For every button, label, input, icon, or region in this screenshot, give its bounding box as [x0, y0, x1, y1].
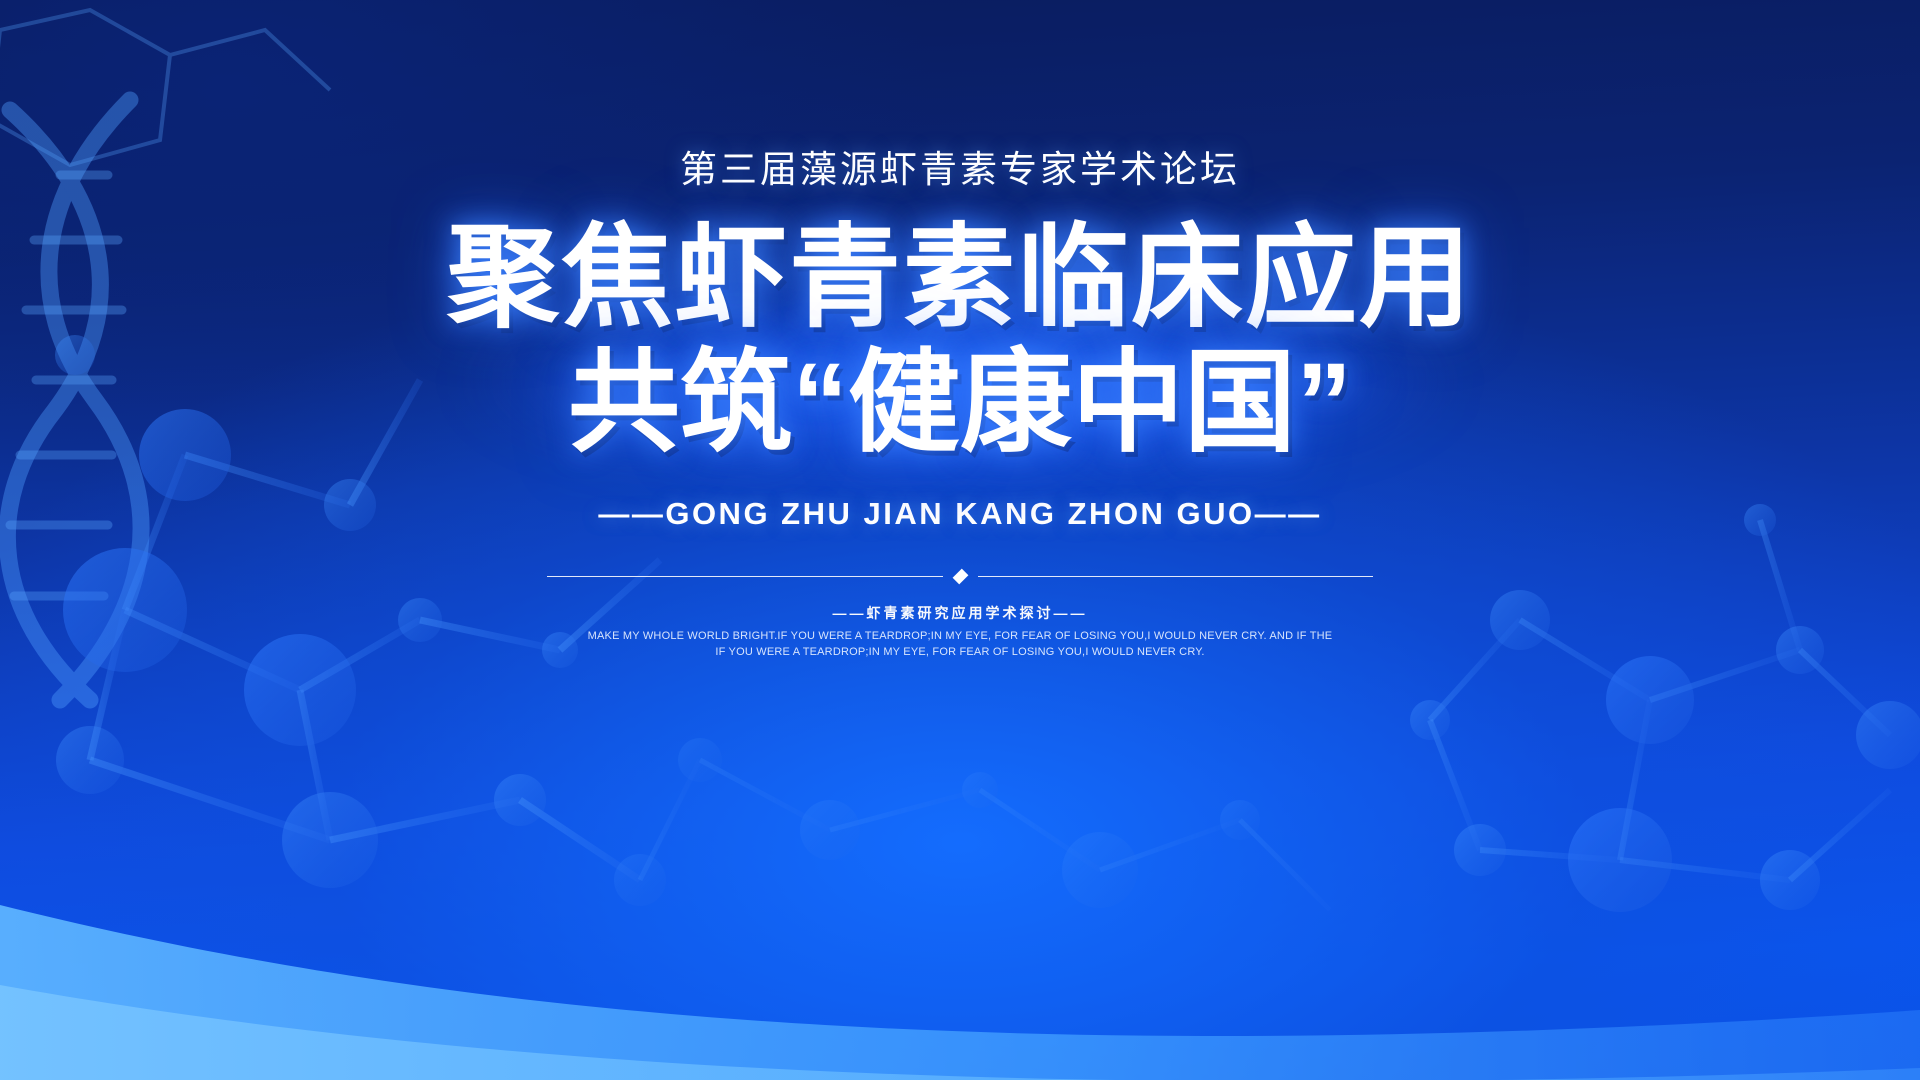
poster-canvas: 第三届藻源虾青素专家学术论坛 聚焦虾青素临床应用 共筑“健康中国” ——GONG… — [0, 0, 1920, 1080]
poster-eyebrow: 第三届藻源虾青素专家学术论坛 — [680, 139, 1240, 193]
poster-title-block: 聚焦虾青素临床应用 共筑“健康中国” — [447, 215, 1473, 466]
divider-rule-right — [978, 576, 1374, 577]
poster-content: 第三届藻源虾青素专家学术论坛 聚焦虾青素临床应用 共筑“健康中国” ——GONG… — [0, 0, 1920, 1080]
fineprint-line-2: IF YOU WERE A TEARDROP;IN MY EYE, FOR FE… — [430, 645, 1490, 661]
section-divider — [547, 570, 1373, 583]
poster-title-line-1: 聚焦虾青素临床应用 — [447, 215, 1473, 340]
poster-title-line-2: 共筑“健康中国” — [447, 340, 1473, 465]
fineprint-line-1: MAKE MY WHOLE WORLD BRIGHT.IF YOU WERE A… — [430, 629, 1490, 645]
poster-subtitle-cn: ——虾青素研究应用学术探讨—— — [833, 603, 1088, 623]
poster-fineprint: MAKE MY WHOLE WORLD BRIGHT.IF YOU WERE A… — [430, 629, 1490, 661]
diamond-icon — [952, 568, 968, 584]
divider-rule-left — [547, 576, 943, 577]
poster-pinyin: ——GONG ZHU JIAN KANG ZHON GUO—— — [598, 496, 1321, 532]
